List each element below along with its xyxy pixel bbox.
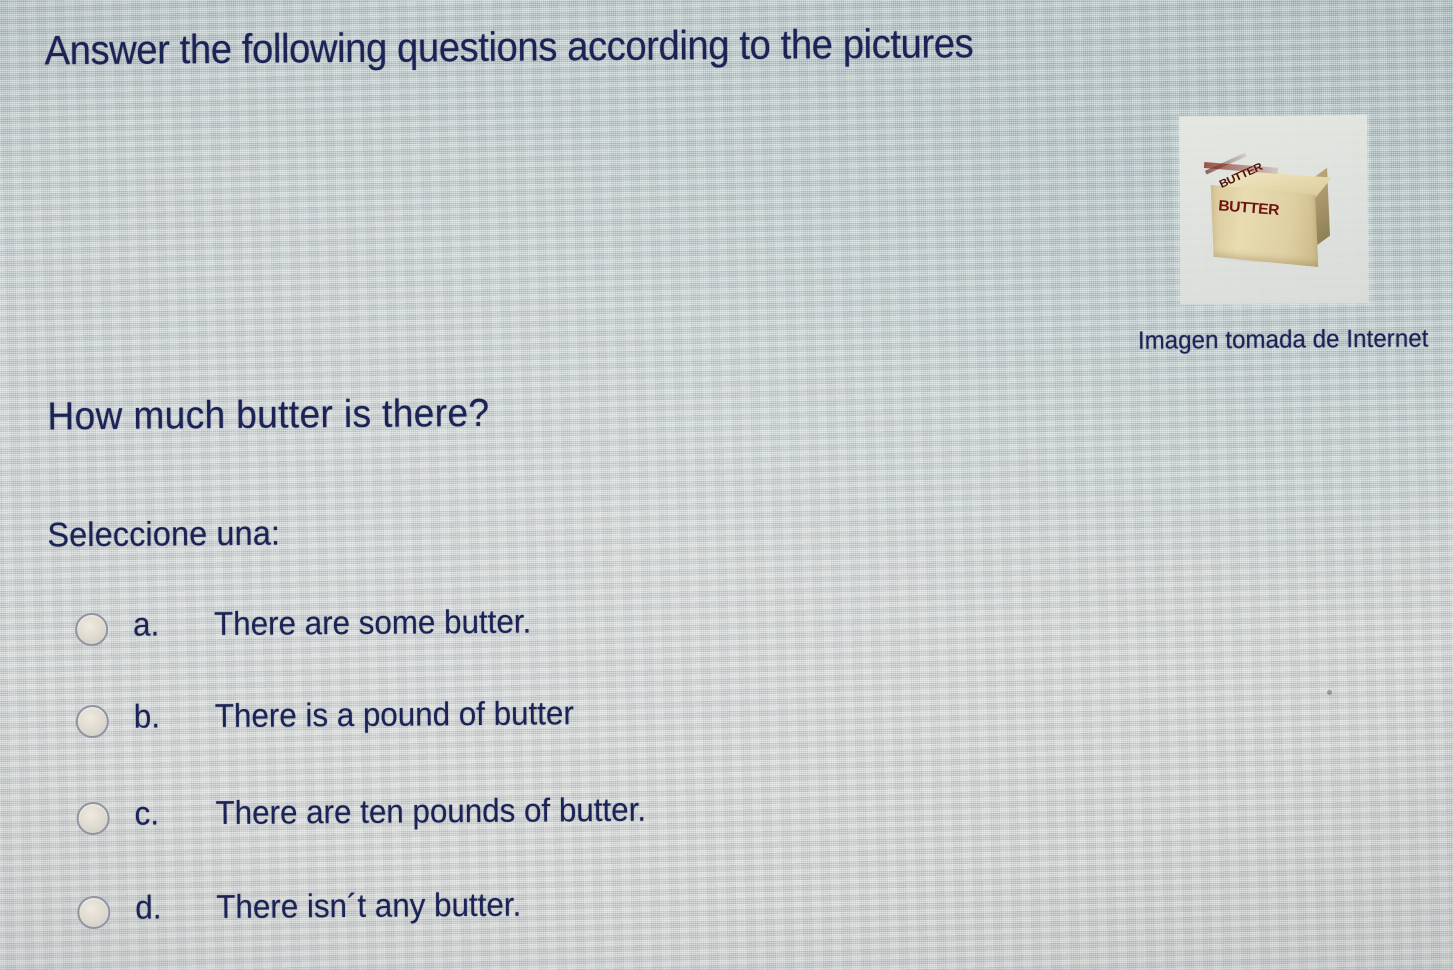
- figure-caption: Imagen tomada de Internet: [1138, 324, 1429, 355]
- radio-button-b[interactable]: [76, 705, 109, 738]
- question-stem: How much butter is there?: [47, 392, 489, 439]
- page-title: Answer the following questions according…: [44, 20, 973, 74]
- butter-box-illustration: BUTTER BUTTER: [1204, 157, 1336, 266]
- option-letter-c: c.: [134, 794, 159, 832]
- select-one-label: Seleccione una:: [47, 515, 280, 556]
- quiz-screen-photo: Answer the following questions according…: [0, 0, 1453, 970]
- screen-dust-speck: [1327, 690, 1332, 695]
- option-text-b: There is a pound of butter: [215, 694, 574, 735]
- question-figure: BUTTER BUTTER: [1179, 115, 1368, 304]
- option-text-a: There are some butter.: [214, 603, 531, 643]
- option-letter-d: d.: [135, 888, 161, 926]
- quiz-content: Answer the following questions according…: [0, 0, 1453, 970]
- radio-button-c[interactable]: [76, 802, 109, 835]
- radio-button-a[interactable]: [75, 613, 108, 646]
- option-text-c: There are ten pounds of butter.: [215, 791, 646, 832]
- option-letter-a: a.: [133, 605, 159, 643]
- option-text-d: There isn´t any butter.: [216, 886, 521, 926]
- radio-button-d[interactable]: [77, 896, 110, 929]
- option-letter-b: b.: [134, 697, 160, 735]
